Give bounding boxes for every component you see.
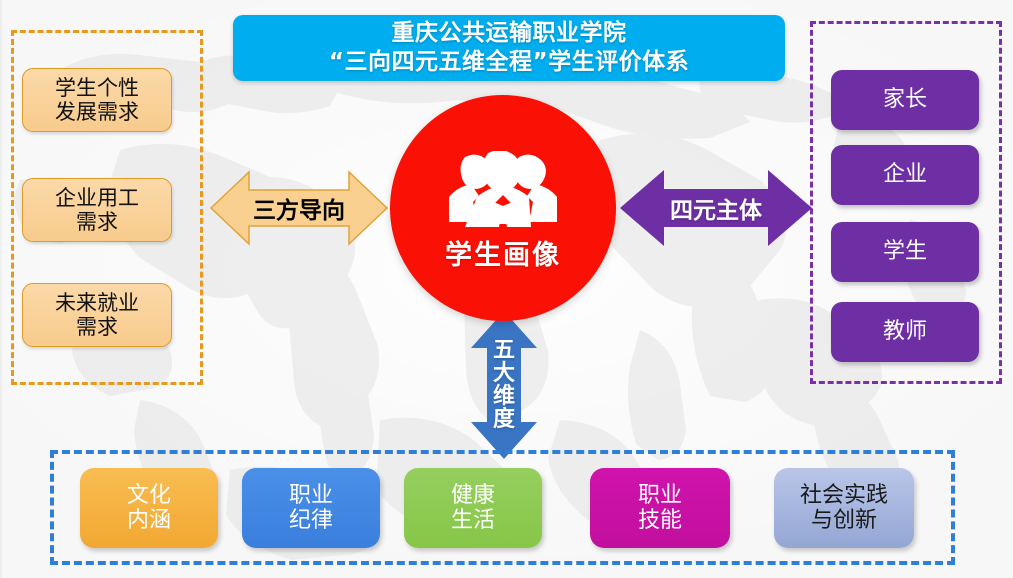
three-people-icon [443,151,563,229]
right-card-0-label: 家长 [883,87,927,112]
dimension-card-2[interactable]: 健康 生活 [404,468,542,548]
left-card-0[interactable]: 学生个性 发展需求 [22,68,172,132]
left-card-2[interactable]: 未来就业 需求 [22,283,172,347]
right-card-1[interactable]: 企业 [831,145,979,205]
right-card-2-label: 学生 [883,239,927,264]
dimension-card-1[interactable]: 职业 纪律 [242,468,380,548]
left-card-0-label: 学生个性 发展需求 [55,76,139,124]
left-card-1-label: 企业用工 需求 [55,186,139,234]
dimension-card-4-label: 社会实践 与创新 [800,483,888,534]
dimension-card-0-label: 文化 内涵 [127,483,171,534]
right-card-2[interactable]: 学生 [831,222,979,282]
left-card-1[interactable]: 企业用工 需求 [22,178,172,242]
dimension-card-0[interactable]: 文化 内涵 [80,468,218,548]
student-portrait-circle[interactable]: 学生画像 [390,95,616,321]
dimension-card-4[interactable]: 社会实践 与创新 [774,468,914,548]
left-card-2-label: 未来就业 需求 [55,291,139,339]
page-title: 重庆公共运输职业学院 “三向四元五维全程”学生评价体系 [233,15,785,81]
double-arrow-vertical-icon [469,310,539,460]
right-card-0[interactable]: 家长 [831,70,979,130]
dimension-card-3-label: 职业 技能 [638,483,682,534]
dimension-card-1-label: 职业 纪律 [289,483,333,534]
slide-canvas: 重庆公共运输职业学院 “三向四元五维全程”学生评价体系 学生个性 发展需求 企业… [0,0,1013,578]
dimension-card-2-label: 健康 生活 [451,483,495,534]
double-arrow-horizontal-icon [209,168,389,248]
student-portrait-label: 学生画像 [445,233,561,272]
right-card-3[interactable]: 教师 [831,302,979,362]
double-arrow-horizontal-icon [618,168,814,248]
right-card-1-label: 企业 [883,162,927,187]
dimension-card-3[interactable]: 职业 技能 [590,468,730,548]
right-card-3-label: 教师 [883,319,927,344]
